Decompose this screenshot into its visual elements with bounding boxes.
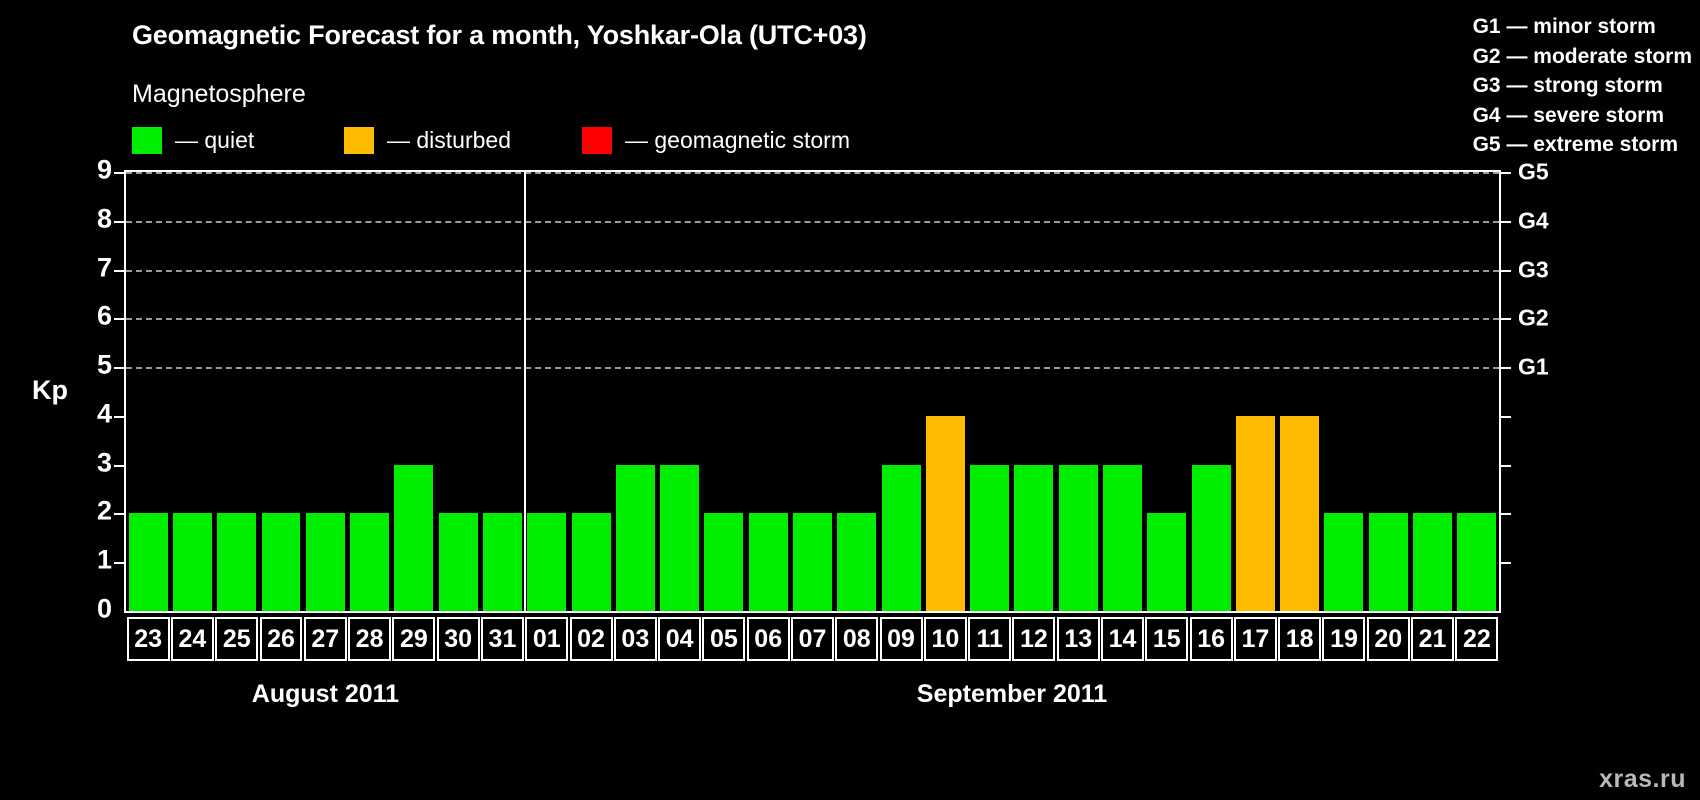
legend-swatch-disturbed: [344, 127, 374, 154]
gridline-kp-7: [126, 270, 1499, 272]
y-tick-left-2: [114, 513, 125, 515]
bar-day-16[interactable]: [1192, 465, 1231, 611]
day-label-20[interactable]: 20: [1367, 617, 1410, 661]
y-tick-label-5: 5: [97, 350, 112, 381]
y-tick-right-3: [1500, 465, 1511, 467]
bar-day-12[interactable]: [1014, 465, 1053, 611]
bar-day-13[interactable]: [1059, 465, 1098, 611]
legend-swatch-quiet: [132, 127, 162, 154]
gridline-kp-8: [126, 221, 1499, 223]
legend-label-quiet: — quiet: [175, 127, 254, 154]
day-label-10[interactable]: 10: [924, 617, 967, 661]
bar-day-22[interactable]: [1457, 513, 1496, 611]
day-label-09[interactable]: 09: [880, 617, 923, 661]
y-axis-title: Kp: [32, 375, 68, 406]
day-label-24[interactable]: 24: [171, 617, 214, 661]
right-axis-label-g1: G1: [1518, 354, 1549, 381]
legend-item-disturbed: — disturbed: [344, 126, 511, 154]
bar-day-07[interactable]: [793, 513, 832, 611]
y-tick-left-3: [114, 465, 125, 467]
bar-day-05[interactable]: [704, 513, 743, 611]
day-label-17[interactable]: 17: [1234, 617, 1277, 661]
plot-area: [124, 170, 1501, 613]
right-axis-label-g2: G2: [1518, 305, 1549, 332]
y-tick-left-9: [114, 172, 125, 174]
y-tick-left-6: [114, 318, 125, 320]
y-tick-left-5: [114, 367, 125, 369]
right-axis-label-g3: G3: [1518, 256, 1549, 283]
day-label-06[interactable]: 06: [747, 617, 790, 661]
bar-day-23[interactable]: [129, 513, 168, 611]
bar-day-18[interactable]: [1280, 416, 1319, 611]
g-scale-legend: G1 — minor stormG2 — moderate stormG3 — …: [1473, 12, 1692, 160]
y-tick-right-7: [1500, 270, 1511, 272]
day-label-11[interactable]: 11: [968, 617, 1011, 661]
bar-day-10[interactable]: [926, 416, 965, 611]
bar-day-01[interactable]: [527, 513, 566, 611]
bar-day-21[interactable]: [1413, 513, 1452, 611]
y-tick-label-4: 4: [97, 398, 112, 429]
magnetosphere-label: Magnetosphere: [132, 80, 306, 109]
day-label-02[interactable]: 02: [570, 617, 613, 661]
y-tick-left-4: [114, 416, 125, 418]
gridline-kp-6: [126, 318, 1499, 320]
day-label-16[interactable]: 16: [1190, 617, 1233, 661]
day-label-12[interactable]: 12: [1012, 617, 1055, 661]
bar-day-29[interactable]: [394, 465, 433, 611]
bar-day-20[interactable]: [1369, 513, 1408, 611]
y-tick-left-7: [114, 270, 125, 272]
y-tick-label-2: 2: [97, 496, 112, 527]
page-title: Geomagnetic Forecast for a month, Yoshka…: [132, 20, 867, 51]
bar-day-02[interactable]: [572, 513, 611, 611]
bar-day-27[interactable]: [306, 513, 345, 611]
day-label-04[interactable]: 04: [658, 617, 701, 661]
right-axis-label-g4: G4: [1518, 207, 1549, 234]
day-label-29[interactable]: 29: [392, 617, 435, 661]
y-tick-label-1: 1: [97, 545, 112, 576]
bar-day-08[interactable]: [837, 513, 876, 611]
day-label-28[interactable]: 28: [348, 617, 391, 661]
y-tick-label-7: 7: [97, 252, 112, 283]
gridline-kp-9: [126, 172, 1499, 174]
day-label-27[interactable]: 27: [304, 617, 347, 661]
month-separator: [524, 172, 526, 611]
y-tick-right-9: [1500, 172, 1511, 174]
y-tick-left-1: [114, 562, 125, 564]
y-tick-label-0: 0: [97, 594, 112, 625]
bar-day-26[interactable]: [262, 513, 301, 611]
day-label-21[interactable]: 21: [1411, 617, 1454, 661]
bar-day-03[interactable]: [616, 465, 655, 611]
bar-day-15[interactable]: [1147, 513, 1186, 611]
g-legend-line-1: G1 — minor storm: [1473, 12, 1692, 42]
bar-day-04[interactable]: [660, 465, 699, 611]
bar-day-25[interactable]: [217, 513, 256, 611]
legend-label-disturbed: — disturbed: [387, 127, 511, 154]
g-legend-line-4: G4 — severe storm: [1473, 101, 1692, 131]
day-label-13[interactable]: 13: [1057, 617, 1100, 661]
y-tick-left-8: [114, 221, 125, 223]
day-label-15[interactable]: 15: [1145, 617, 1188, 661]
gridline-kp-5: [126, 367, 1499, 369]
day-label-strip: 2324252627282930310102030405060708091011…: [126, 617, 1499, 661]
bar-day-24[interactable]: [173, 513, 212, 611]
month-caption-august: August 2011: [252, 680, 399, 709]
day-label-07[interactable]: 07: [791, 617, 834, 661]
y-axis-labels: 0123456789: [70, 170, 112, 613]
legend-item-quiet: — quiet: [132, 126, 254, 154]
y-tick-right-5: [1500, 367, 1511, 369]
bar-day-06[interactable]: [749, 513, 788, 611]
legend-item-storm: — geomagnetic storm: [582, 126, 850, 154]
y-tick-label-9: 9: [97, 155, 112, 186]
y-tick-right-8: [1500, 221, 1511, 223]
bar-day-17[interactable]: [1236, 416, 1275, 611]
chart-canvas: Geomagnetic Forecast for a month, Yoshka…: [0, 0, 1700, 800]
day-label-14[interactable]: 14: [1101, 617, 1144, 661]
y-tick-right-4: [1500, 416, 1511, 418]
day-label-23[interactable]: 23: [127, 617, 170, 661]
day-label-31[interactable]: 31: [481, 617, 524, 661]
day-label-30[interactable]: 30: [437, 617, 480, 661]
day-label-08[interactable]: 08: [835, 617, 878, 661]
g-legend-line-2: G2 — moderate storm: [1473, 42, 1692, 72]
y-tick-right-1: [1500, 562, 1511, 564]
watermark: xras.ru: [1599, 765, 1686, 794]
y-tick-label-6: 6: [97, 301, 112, 332]
day-label-26[interactable]: 26: [260, 617, 303, 661]
day-label-25[interactable]: 25: [215, 617, 258, 661]
day-label-22[interactable]: 22: [1455, 617, 1498, 661]
day-label-03[interactable]: 03: [614, 617, 657, 661]
bar-day-28[interactable]: [350, 513, 389, 611]
plot-inner: [126, 172, 1499, 611]
bar-day-14[interactable]: [1103, 465, 1142, 611]
legend-label-storm: — geomagnetic storm: [625, 127, 850, 154]
g-legend-line-3: G3 — strong storm: [1473, 71, 1692, 101]
day-label-18[interactable]: 18: [1278, 617, 1321, 661]
y-tick-label-3: 3: [97, 447, 112, 478]
bar-day-31[interactable]: [483, 513, 522, 611]
y-tick-right-2: [1500, 513, 1511, 515]
bar-day-11[interactable]: [970, 465, 1009, 611]
right-axis-label-g5: G5: [1518, 159, 1549, 186]
day-label-05[interactable]: 05: [702, 617, 745, 661]
y-tick-label-8: 8: [97, 203, 112, 234]
bar-day-30[interactable]: [439, 513, 478, 611]
bar-day-19[interactable]: [1324, 513, 1363, 611]
legend-swatch-storm: [582, 127, 612, 154]
day-label-19[interactable]: 19: [1322, 617, 1365, 661]
g-legend-line-5: G5 — extreme storm: [1473, 130, 1692, 160]
y-tick-right-6: [1500, 318, 1511, 320]
bar-day-09[interactable]: [882, 465, 921, 611]
month-caption-september: September 2011: [917, 680, 1107, 709]
day-label-01[interactable]: 01: [525, 617, 568, 661]
